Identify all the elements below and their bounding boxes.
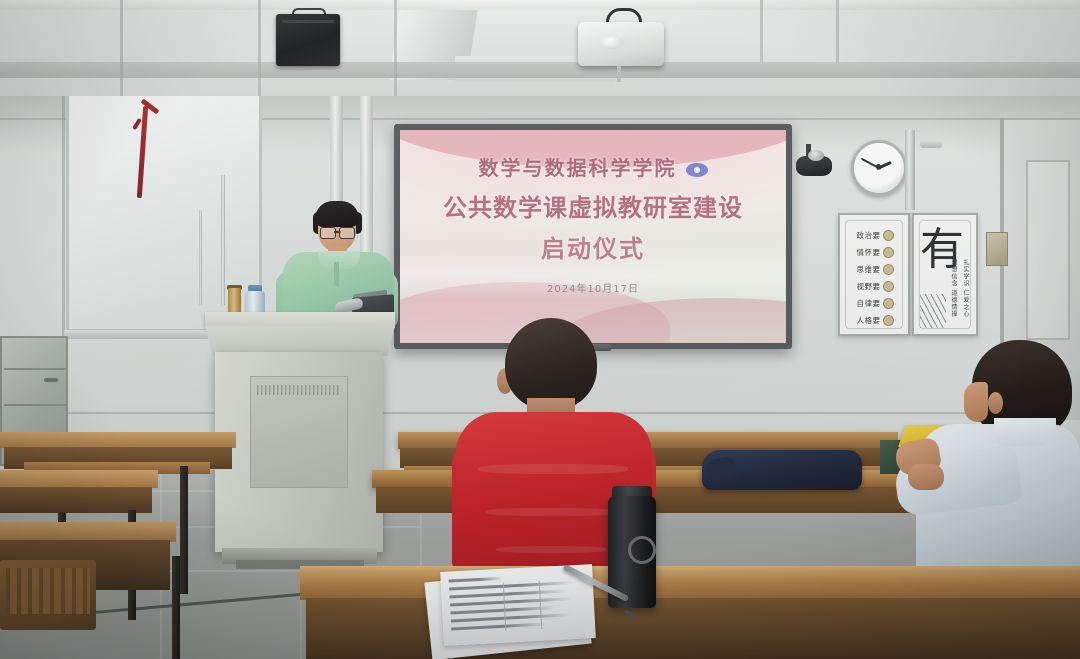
attendee-red-head xyxy=(505,318,597,410)
slide-date: 2024年10月17日 xyxy=(400,280,786,295)
podium-panel xyxy=(250,376,348,488)
poster-row-label: 政治要 xyxy=(857,230,881,241)
presenter-hair xyxy=(315,201,359,227)
classroom-photo: 数学与数据科学学院 公共数学课虚拟教研室建设 启动仪式 2024年10月17日 … xyxy=(0,0,1080,659)
ceiling-grid-line xyxy=(836,0,839,62)
presenter-glasses-icon xyxy=(320,227,355,237)
wall-pipe xyxy=(360,84,373,264)
ceiling-speaker-box xyxy=(276,14,340,66)
list-item: 政治要 xyxy=(846,227,904,244)
poster-row-label: 情怀要 xyxy=(857,247,881,258)
poster-bullet-icon xyxy=(883,281,894,292)
wall-switch-plate xyxy=(986,232,1008,266)
attendee-white-collar xyxy=(994,418,1056,446)
presenter-shirt-placket xyxy=(334,262,339,286)
projection-screen: 数学与数据科学学院 公共数学课虚拟教研室建设 启动仪式 2024年10月17日 xyxy=(400,130,786,343)
attendee-white-face xyxy=(964,382,988,422)
attendee-white-ear xyxy=(988,392,1003,414)
desk-leg xyxy=(172,556,180,659)
wall-poster-left: 政治要 情怀要 思维要 视野要 自律要 人格要 xyxy=(838,213,910,336)
list-item: 情怀要 xyxy=(846,244,904,261)
flask-carry-ring xyxy=(628,536,656,564)
chair-back xyxy=(0,560,96,630)
ceiling-grid-line xyxy=(760,0,763,62)
poster-bullet-icon xyxy=(883,230,894,241)
document-sheets xyxy=(440,564,596,646)
poster-row-label: 思维要 xyxy=(857,264,881,275)
document-text-lines xyxy=(449,572,588,639)
poster-row-list: 政治要 情怀要 思维要 视野要 自律要 人格要 xyxy=(846,227,904,329)
wall-pipe-joint xyxy=(920,140,942,148)
desk-left-near xyxy=(0,522,176,542)
poster-row-label: 视野要 xyxy=(857,281,881,292)
desk-left-far xyxy=(0,432,236,448)
school-emblem-icon xyxy=(686,163,708,177)
list-item: 人格要 xyxy=(846,312,904,329)
slide-title-line-2: 启动仪式 xyxy=(400,229,786,264)
wall-poster-right: 有 理想信念 道德情操 扎实学识 仁爱之心 xyxy=(912,213,978,336)
poster-bullet-icon xyxy=(883,264,894,275)
poster-bullet-icon xyxy=(883,298,894,309)
chair-slats xyxy=(6,568,90,614)
projector-stem xyxy=(617,66,621,82)
ceiling-grid-line xyxy=(394,0,397,96)
clock-center xyxy=(876,164,881,169)
ceiling-grid-line xyxy=(258,0,261,96)
ceiling-grid-line xyxy=(120,0,123,96)
poster-hatch-decoration xyxy=(920,294,946,328)
microphone-stand xyxy=(221,175,225,305)
cabinet-handle xyxy=(44,378,58,382)
list-item: 自律要 xyxy=(846,295,904,312)
ceiling-trim xyxy=(0,0,1080,10)
wall-pipe xyxy=(905,130,915,210)
slide-institution: 数学与数据科学学院 xyxy=(400,152,786,181)
slide-institution-text: 数学与数据科学学院 xyxy=(479,156,677,180)
ceiling-beam xyxy=(0,62,1080,78)
poster-side-column-text: 扎实学识 仁爱之心 xyxy=(961,259,970,318)
poster-bullet-icon xyxy=(883,247,894,258)
poster-row-label: 自律要 xyxy=(857,298,881,309)
presenter-collar xyxy=(318,251,360,269)
poster-side-column-text: 理想信念 道德情操 xyxy=(949,259,958,318)
podium-vent xyxy=(257,385,341,395)
slide-text-block: 数学与数据科学学院 公共数学课虚拟教研室建设 启动仪式 2024年10月17日 xyxy=(400,130,786,343)
paper-cup xyxy=(228,288,241,314)
near-desk-side xyxy=(306,598,1080,659)
list-item: 视野要 xyxy=(846,278,904,295)
list-item: 思维要 xyxy=(846,261,904,278)
microphone-stand xyxy=(199,210,202,305)
door-panel xyxy=(1026,160,1070,340)
desk-left-mid xyxy=(0,470,158,488)
near-desk-top xyxy=(300,572,1080,600)
projector-lens-icon xyxy=(600,36,624,49)
camera-dome xyxy=(808,150,824,161)
attendee-white-hand xyxy=(908,464,944,490)
podium-top xyxy=(205,312,395,328)
desk-leg xyxy=(180,466,188,594)
poster-row-label: 人格要 xyxy=(857,315,881,326)
poster-bullet-icon xyxy=(883,315,894,326)
slide-title-line-1: 公共数学课虚拟教研室建设 xyxy=(400,188,786,223)
